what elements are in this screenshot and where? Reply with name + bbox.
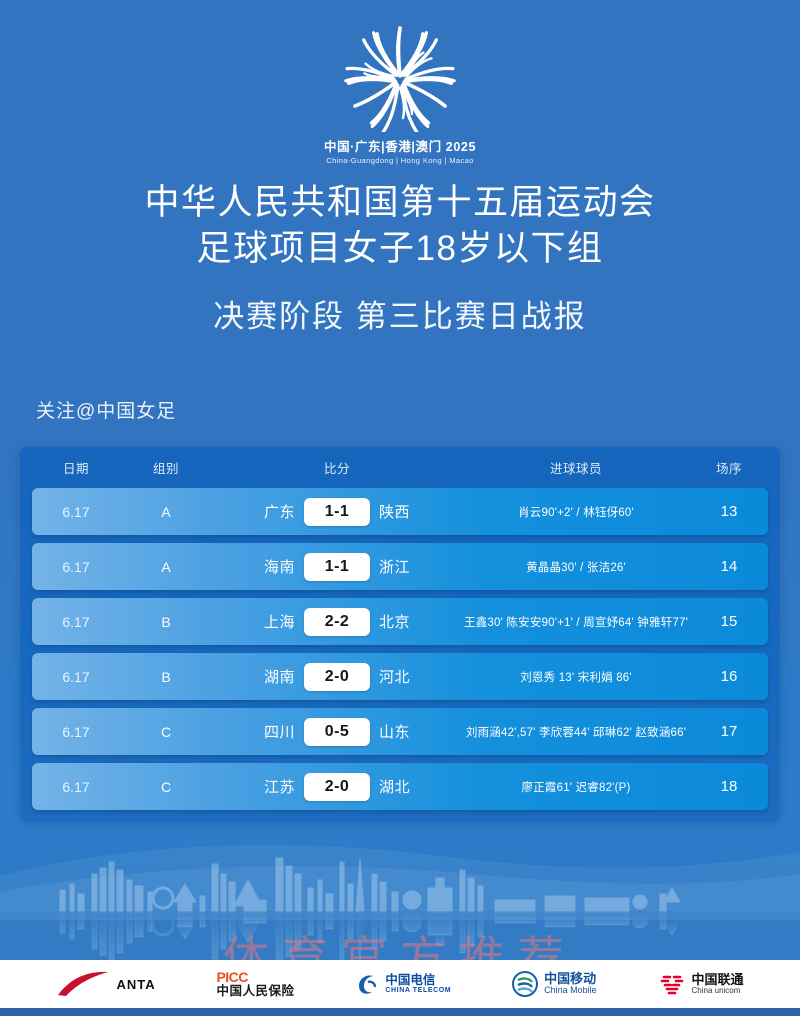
cell-scorers: 廖正霞61' 迟睿82'(P) [462, 779, 690, 795]
cell-date: 6.17 [32, 504, 120, 520]
away-team: 湖北 [379, 776, 441, 797]
cell-scorers: 刘恩秀 13' 宋利娟 86' [462, 669, 690, 685]
poster-titles: 中华人民共和国第十五届运动会 足球项目女子18岁以下组 决赛阶段 第三比赛日战报 [0, 180, 800, 338]
sponsor-china-mobile-en: China Mobile [544, 986, 597, 995]
away-team: 浙江 [379, 556, 441, 577]
sponsor-china-telecom: 中国电信 CHINA TELECOM [355, 972, 451, 996]
sponsor-china-unicom: 中国联通 China unicom [658, 971, 744, 997]
table-row[interactable]: 6.17C四川0-5山东刘雨涵42',57' 李欣蓉44' 邱琳62' 赵致涵6… [32, 708, 768, 755]
china-telecom-icon [355, 972, 379, 996]
away-team: 北京 [379, 611, 441, 632]
cell-date: 6.17 [32, 724, 120, 740]
fireworks-emblem-icon [340, 22, 460, 132]
cell-match-no: 14 [690, 558, 768, 575]
column-header-group: 组别 [120, 458, 212, 477]
cell-group: A [120, 504, 212, 520]
table-header-row: 日期 组别 比分 进球球员 场序 [32, 447, 768, 488]
cell-date: 6.17 [32, 779, 120, 795]
cell-score: 湖南2-0河北 [212, 663, 462, 691]
sponsor-picc: PICC 中国人民保险 [216, 970, 294, 998]
cell-score: 广东1-1陕西 [212, 498, 462, 526]
results-table: 日期 组别 比分 进球球员 场序 6.17A广东1-1陕西肖云90'+2' / … [20, 447, 780, 822]
cell-scorers: 王鑫30' 陈安安90'+1' / 周宣妤64' 钟雅轩77' [462, 614, 690, 630]
cell-score: 四川0-5山东 [212, 718, 462, 746]
home-team: 四川 [233, 721, 295, 742]
cell-group: B [120, 614, 212, 630]
cell-group: C [120, 724, 212, 740]
sponsor-picc-label: 中国人民保险 [216, 985, 294, 998]
sponsor-china-telecom-label: 中国电信 [385, 974, 451, 987]
home-team: 海南 [233, 556, 295, 577]
page-title-line2: 足球项目女子18岁以下组 [0, 226, 800, 272]
table-row[interactable]: 6.17A海南1-1浙江黄晶晶30' / 张洁26'14 [32, 543, 768, 590]
cell-match-no: 17 [690, 723, 768, 740]
poster-root: 中国·广东|香港|澳门 2025 China-Guangdong | Hong … [0, 0, 800, 1016]
cell-match-no: 15 [690, 613, 768, 630]
score-chip: 1-1 [304, 553, 370, 581]
table-row[interactable]: 6.17C江苏2-0湖北廖正霞61' 迟睿82'(P)18 [32, 763, 768, 810]
home-team: 广东 [233, 501, 295, 522]
background-wave [0, 830, 800, 920]
table-row[interactable]: 6.17B上海2-2北京王鑫30' 陈安安90'+1' / 周宣妤64' 钟雅轩… [32, 598, 768, 645]
cell-date: 6.17 [32, 614, 120, 630]
sponsor-china-telecom-en: CHINA TELECOM [385, 987, 451, 994]
away-team: 河北 [379, 666, 441, 687]
page-title-line1: 中华人民共和国第十五届运动会 [0, 180, 800, 226]
cell-score: 上海2-2北京 [212, 608, 462, 636]
score-chip: 1-1 [304, 498, 370, 526]
cell-scorers: 刘雨涵42',57' 李欣蓉44' 邱琳62' 赵致涵66' [462, 724, 690, 740]
home-team: 上海 [233, 611, 295, 632]
away-team: 陕西 [379, 501, 441, 522]
sponsor-anta-label: ANTA [116, 977, 155, 992]
sponsor-anta: ANTA [56, 971, 155, 997]
cell-group: A [120, 559, 212, 575]
sponsor-picc-en: PICC [216, 970, 294, 985]
column-header-date: 日期 [32, 458, 120, 477]
home-team: 江苏 [233, 776, 295, 797]
cell-group: B [120, 669, 212, 685]
score-chip: 0-5 [304, 718, 370, 746]
cell-match-no: 13 [690, 503, 768, 520]
sponsor-china-mobile-label: 中国移动 [544, 972, 597, 986]
cell-date: 6.17 [32, 559, 120, 575]
cell-score: 江苏2-0湖北 [212, 773, 462, 801]
skyline-decoration [0, 840, 800, 960]
table-body: 6.17A广东1-1陕西肖云90'+2' / 林钰伢60'136.17A海南1-… [32, 488, 768, 810]
column-header-score: 比分 [212, 458, 462, 477]
follow-handle: 关注@中国女足 [36, 396, 176, 423]
sponsor-bar: ANTA PICC 中国人民保险 中国电信 CHINA TELECOM [0, 960, 800, 1008]
cell-score: 海南1-1浙江 [212, 553, 462, 581]
page-subtitle: 决赛阶段 第三比赛日战报 [0, 296, 800, 338]
emblem-title-cn: 中国·广东|香港|澳门 2025 [324, 136, 476, 155]
cell-date: 6.17 [32, 669, 120, 685]
cell-scorers: 肖云90'+2' / 林钰伢60' [462, 504, 690, 520]
event-emblem: 中国·广东|香港|澳门 2025 China-Guangdong | Hong … [0, 22, 800, 165]
score-chip: 2-0 [304, 663, 370, 691]
cell-match-no: 18 [690, 778, 768, 795]
home-team: 湖南 [233, 666, 295, 687]
table-row[interactable]: 6.17A广东1-1陕西肖云90'+2' / 林钰伢60'13 [32, 488, 768, 535]
score-chip: 2-0 [304, 773, 370, 801]
sponsor-china-mobile: 中国移动 China Mobile [512, 971, 597, 997]
away-team: 山东 [379, 721, 441, 742]
sponsor-china-unicom-en: China unicom [692, 987, 744, 995]
cell-group: C [120, 779, 212, 795]
emblem-title-en: China-Guangdong | Hong Kong | Macao [326, 156, 474, 165]
cell-match-no: 16 [690, 668, 768, 685]
china-mobile-icon [512, 971, 538, 997]
anta-swoosh-icon [56, 971, 110, 997]
china-unicom-icon [658, 971, 686, 997]
sponsor-china-unicom-label: 中国联通 [692, 973, 744, 987]
column-header-scorers: 进球球员 [462, 458, 690, 477]
score-chip: 2-2 [304, 608, 370, 636]
bottom-bar [0, 1008, 800, 1016]
table-row[interactable]: 6.17B湖南2-0河北刘恩秀 13' 宋利娟 86'16 [32, 653, 768, 700]
cell-scorers: 黄晶晶30' / 张洁26' [462, 559, 690, 575]
column-header-match-no: 场序 [690, 458, 768, 477]
